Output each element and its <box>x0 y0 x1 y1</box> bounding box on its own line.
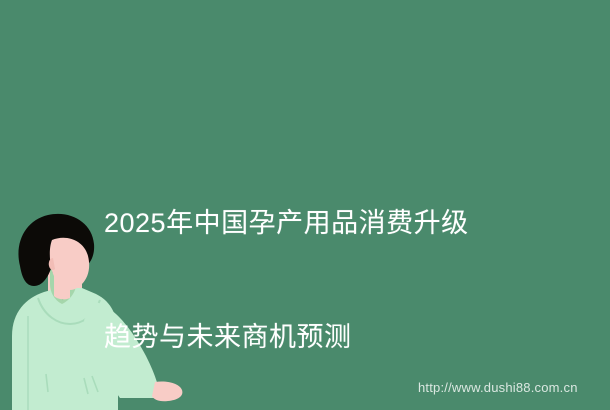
banner-canvas: 2025年中国孕产用品消费升级 趋势与未来商机预测 http://www.dus… <box>0 0 610 410</box>
banner-title: 2025年中国孕产用品消费升级 趋势与未来商机预测 <box>104 128 544 410</box>
title-line-2: 趋势与未来商机预测 <box>104 318 544 356</box>
title-line-1: 2025年中国孕产用品消费升级 <box>104 204 544 242</box>
watermark-url: http://www.dushi88.com.cn <box>418 380 578 395</box>
